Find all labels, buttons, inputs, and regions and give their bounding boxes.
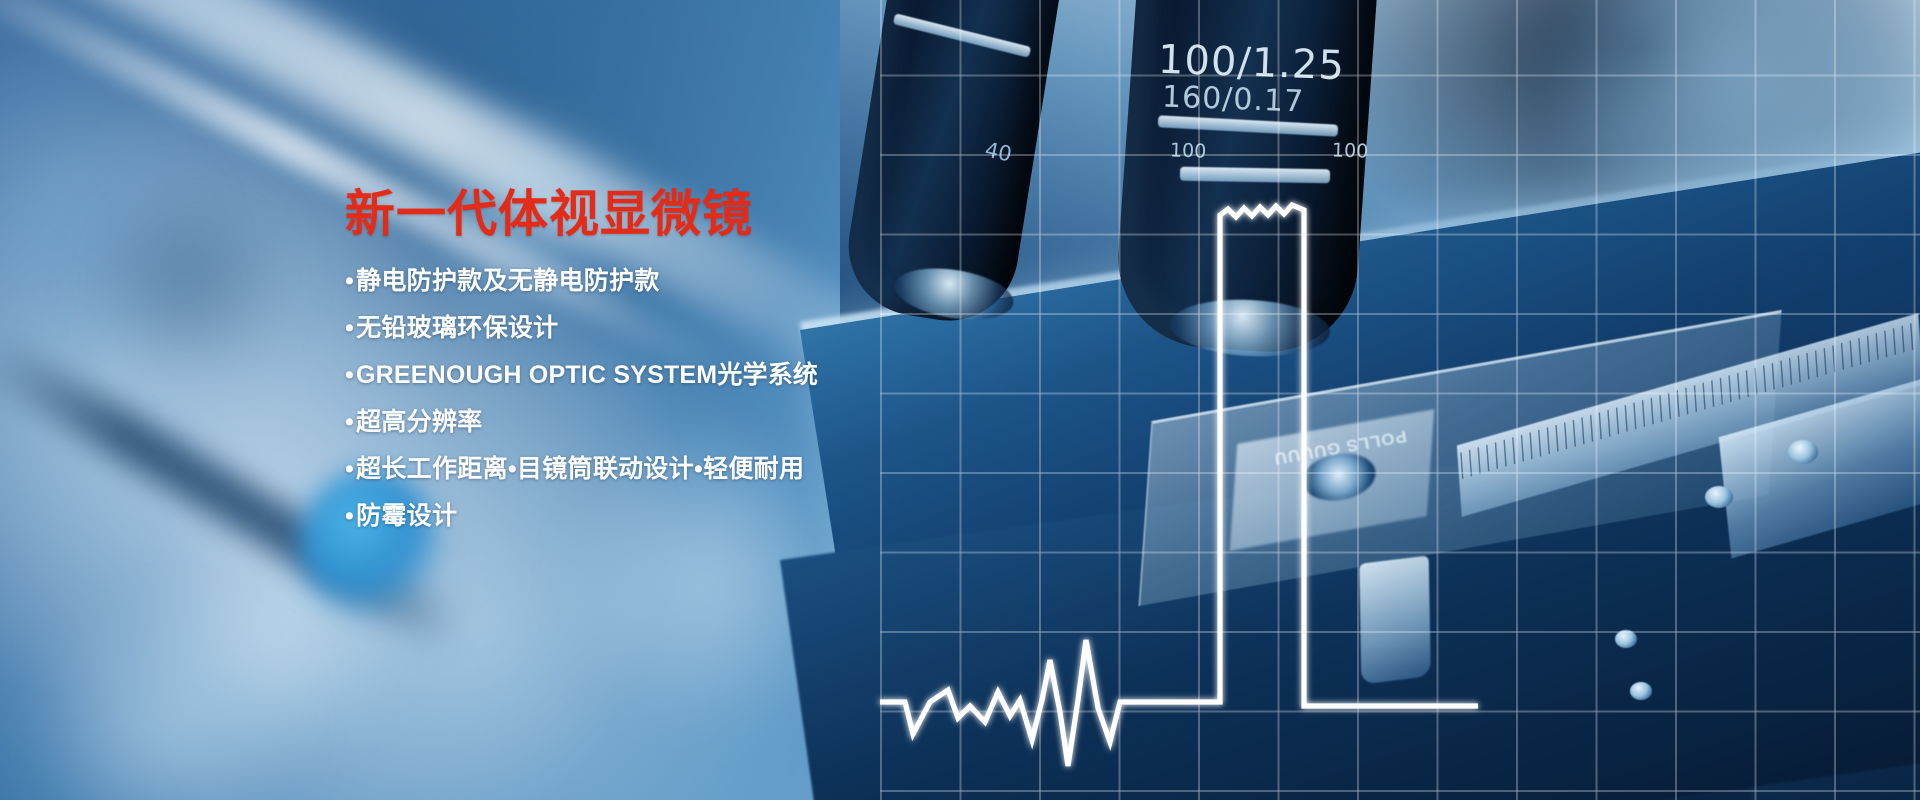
list-item-label: GREENOUGH OPTIC SYSTEM光学系统 — [356, 361, 818, 389]
list-item: •超长工作距离•目镜筒联动设计•轻便耐用 — [345, 457, 1065, 482]
banner-copy: 新一代体视显微镜 •静电防护款及无静电防护款 •无铅玻璃环保设计 •GREENO… — [345, 188, 1065, 551]
objective-white-band — [1180, 167, 1330, 184]
list-item: •GREENOUGH OPTIC SYSTEM光学系统 — [345, 363, 1065, 388]
bullet-marker: • — [345, 361, 354, 389]
page-title: 新一代体视显微镜 — [345, 188, 1065, 241]
feature-list: •静电防护款及无静电防护款 •无铅玻璃环保设计 •GREENOUGH OPTIC… — [345, 269, 1065, 529]
stage-screw — [1630, 682, 1652, 700]
bokeh-blob — [80, 180, 300, 380]
hero-banner: POLLS GUUUU 40 100/1.25 160/0.17 100 100 — [0, 0, 1920, 800]
list-item: •超高分辨率 — [345, 410, 1065, 435]
objective-mag-right-label: 100 — [1332, 139, 1369, 162]
bullet-marker: • — [345, 314, 354, 342]
objective-40x-label: 40 — [983, 137, 1014, 166]
objective-tube-length-label: 160/0.17 — [1161, 80, 1304, 120]
list-item: •无铅玻璃环保设计 — [345, 316, 1065, 341]
list-item: •静电防护款及无静电防护款 — [345, 269, 1065, 294]
list-item-label: 超高分辨率 — [356, 408, 483, 436]
list-item-label: 无铅玻璃环保设计 — [356, 314, 558, 342]
stage-screw — [1788, 440, 1818, 464]
list-item-label: 防霉设计 — [356, 502, 457, 530]
list-item: •防霉设计 — [345, 504, 1065, 529]
stage-screw — [1615, 630, 1637, 648]
stage-screw — [1705, 486, 1733, 508]
list-item-label: 超长工作距离•目镜筒联动设计•轻便耐用 — [356, 455, 804, 483]
bullet-marker: • — [345, 408, 354, 436]
bullet-marker: • — [345, 502, 354, 530]
list-item-label: 静电防护款及无静电防护款 — [356, 267, 660, 295]
objective-mag-left-label: 100 — [1170, 139, 1207, 162]
bullet-marker: • — [345, 267, 354, 295]
bullet-marker: • — [345, 455, 354, 483]
slide-clip — [1359, 555, 1431, 684]
